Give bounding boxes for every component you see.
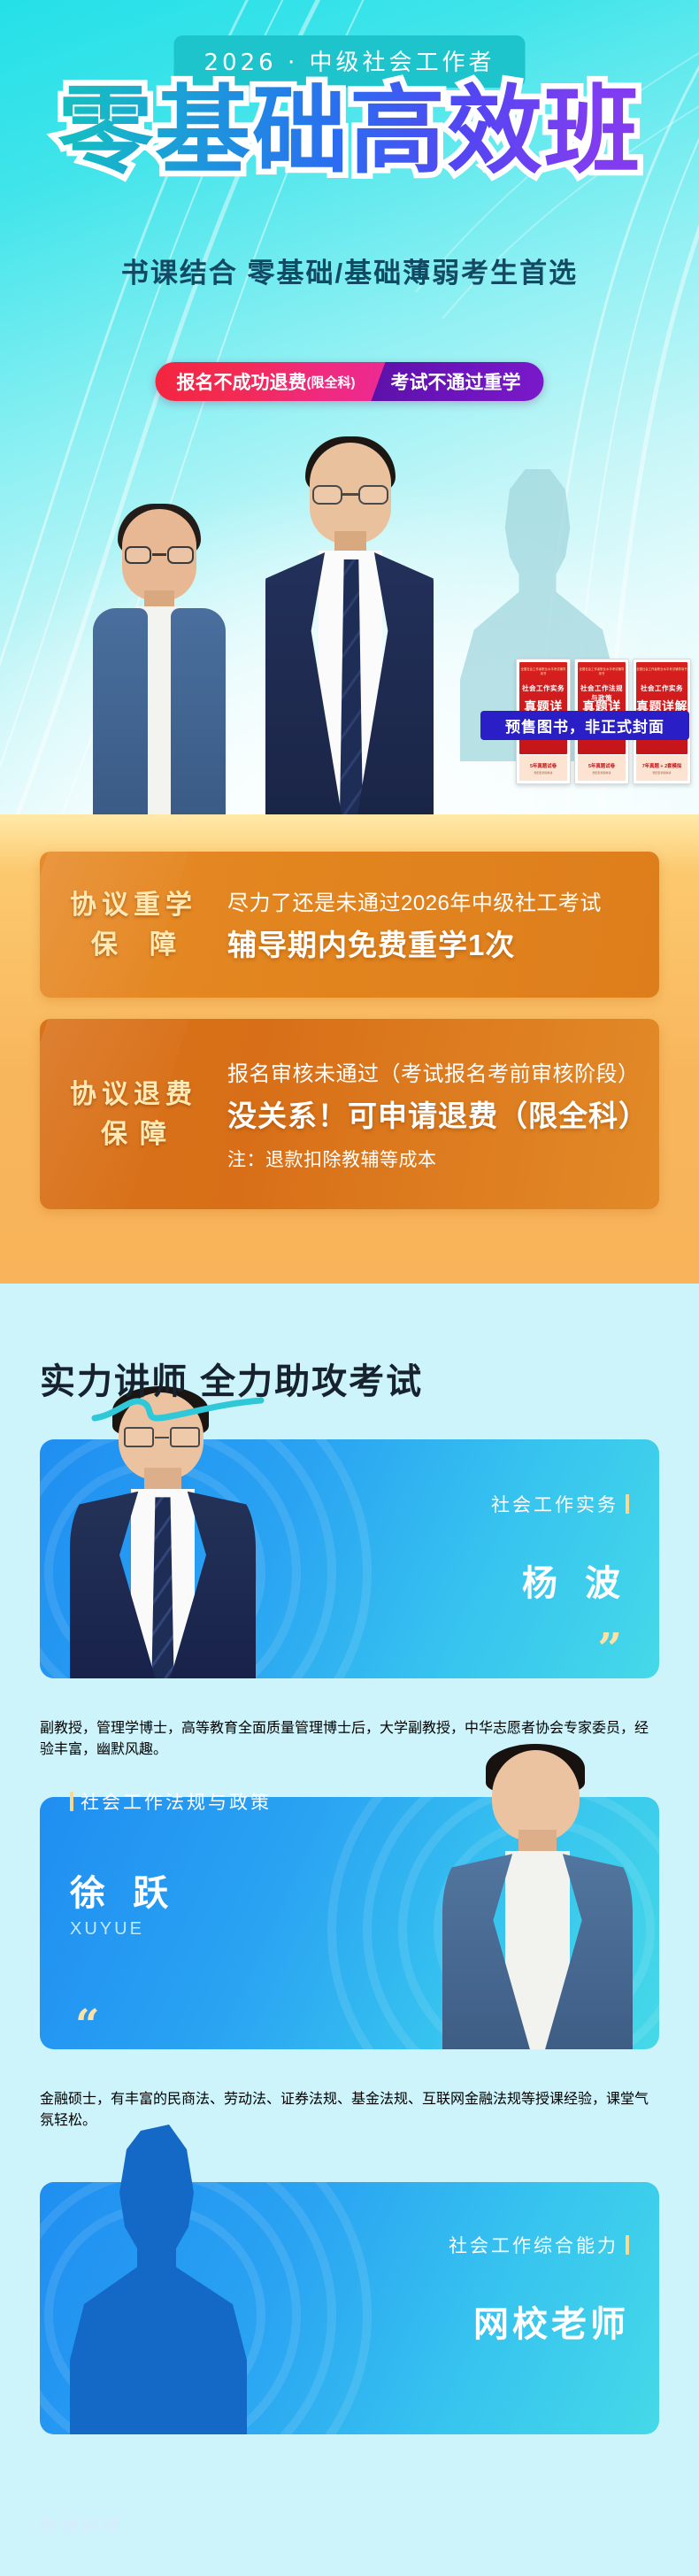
book-publisher: 全国社会工作者职业水平考试辅导用书 — [519, 667, 567, 675]
teacher-card[interactable]: 社会工作综合能力 网校老师 — [40, 2182, 659, 2434]
guarantee-tag-line2: 保 障 — [40, 925, 227, 965]
placeholder-silhouette-icon — [70, 2125, 247, 2434]
teacher-course: 社会工作法规与政策 — [70, 1788, 272, 1815]
pill-refund-sub: (限全科) — [307, 373, 356, 391]
book-badge: 7年真题 + 2套模拟 — [636, 762, 687, 769]
guarantee-footnote: 注：退款扣除教辅等成本 — [227, 1145, 649, 1172]
guarantee-pill: 报名不成功退费(限全科) 考试不通过重学 — [156, 362, 544, 401]
guarantee-card-refund: 协议退费 保障 报名审核未通过（考试报名考前审核阶段） 没关系！可申请退费（限全… — [40, 1019, 659, 1209]
guarantee-tag-line1: 协议重学 — [40, 885, 227, 925]
teacher-bio: 敬请期待... — [40, 2511, 148, 2537]
quote-mark-icon: “ — [75, 2013, 100, 2044]
quote-mark-icon: ” — [597, 1637, 622, 1668]
head-shape — [492, 1750, 580, 1842]
teachers-section: 实力讲师 全力助攻考试 — [0, 1284, 699, 2576]
teacher-portrait-suit — [70, 1386, 256, 1678]
landing-page: 2026 · 中级社会工作者 零基础高效班 零基础高效班 书课结合 零基础/基础… — [0, 0, 699, 2490]
pill-retake-label: 考试不通过重学 — [372, 362, 544, 401]
pill-refund-main: 报名不成功退费 — [177, 368, 307, 395]
book-top-panel: 全国社会工作者职业水平考试辅导用书 社会工作实务 真题详解 全国社会工作者职业水… — [636, 662, 687, 754]
teacher-photo-placeholder — [70, 2125, 247, 2434]
teacher-bio-wrap: 敬请期待... — [40, 2472, 659, 2576]
book-badge: 5年真题试卷 — [578, 762, 626, 769]
glasses-icon — [125, 546, 194, 564]
guarantee-body: 报名审核未通过（考试报名考前审核阶段） 没关系！可申请退费（限全科） 注：退款扣… — [227, 1056, 649, 1172]
guarantee-tag-line1: 协议退费 — [40, 1075, 227, 1114]
book-bottom-panel: 5年真题试卷 赠配套视频精讲 — [519, 755, 567, 781]
teacher-info: 社会工作综合能力 网校老师 — [449, 2232, 629, 2347]
course-accent-bar — [626, 1494, 629, 1514]
teacher-name: 杨 波 — [491, 1554, 629, 1606]
pill-refund-label: 报名不成功退费(限全科) — [156, 362, 386, 401]
book-publisher: 全国社会工作者职业水平考试辅导用书 — [578, 667, 626, 675]
instructor-photo-group: 全国社会工作者职业水平考试辅导用书 社会工作实务 真题详解 全国社会工作者职业水… — [0, 425, 699, 814]
guarantee-condition: 报名审核未通过（考试报名考前审核阶段） — [227, 1056, 649, 1087]
book-bottom-panel: 7年真题 + 2套模拟 赠配套视频精讲 — [636, 755, 687, 781]
teacher-name: 网校老师 — [449, 2295, 629, 2347]
book-series: 社会工作实务 — [636, 683, 687, 693]
book-stack: 全国社会工作者职业水平考试辅导用书 社会工作实务 真题详解 全国社会工作者职业水… — [516, 653, 693, 784]
teacher-info: 徐 跃 XUYUE — [70, 1864, 177, 1940]
teacher-info: 社会工作实务 杨 波 — [491, 1491, 629, 1606]
teacher-portrait-casual — [442, 1744, 633, 2049]
presale-note-banner: 预售图书，非正式封面 — [480, 711, 689, 740]
book-badge-sub: 赠配套视频精讲 — [519, 771, 567, 775]
book-bottom-panel: 5年真题试卷 赠配套视频精讲 — [578, 755, 626, 781]
teacher-card[interactable]: 社会工作实务 杨 波 ” — [40, 1439, 659, 1678]
glasses-icon — [124, 1427, 200, 1447]
teacher-name-pinyin: XUYUE — [70, 1919, 177, 1940]
book-top-panel: 全国社会工作者职业水平考试辅导用书 社会工作实务 真题详解 全国社会工作者职业水… — [519, 662, 567, 754]
necktie-shape — [151, 1497, 173, 1678]
jacket-right-shape — [171, 608, 226, 814]
guarantee-tag-line2: 保障 — [40, 1114, 227, 1154]
guarantee-benefit: 辅导期内免费重学1次 — [227, 922, 602, 964]
guarantee-tag: 协议退费 保障 — [40, 1075, 227, 1154]
course-accent-bar — [626, 2235, 629, 2255]
hero-section: 2026 · 中级社会工作者 零基础高效班 零基础高效班 书课结合 零基础/基础… — [0, 0, 699, 814]
instructor-photo-casual — [93, 509, 226, 814]
course-accent-bar — [70, 1792, 73, 1811]
instructor-photo-suit — [265, 443, 434, 814]
teacher-photo — [442, 1744, 633, 2049]
teacher-course-label: 社会工作综合能力 — [449, 2232, 618, 2258]
teacher-course-label: 社会工作实务 — [491, 1491, 618, 1517]
teacher-course: 社会工作综合能力 — [449, 2232, 629, 2258]
guarantee-benefit: 没关系！可申请退费（限全科） — [227, 1092, 649, 1135]
teacher-photo — [70, 1386, 256, 1678]
glasses-icon — [312, 485, 388, 505]
book-series: 社会工作实务 — [519, 683, 567, 693]
teacher-course: 社会工作实务 — [491, 1491, 629, 1517]
jacket-left-shape — [93, 608, 148, 814]
book-publisher: 全国社会工作者职业水平考试辅导用书 — [636, 667, 687, 671]
book-top-panel: 全国社会工作者职业水平考试辅导用书 社会工作法规与政策 真题详解 全国社会工作者… — [578, 662, 626, 754]
guarantee-card-retake: 协议重学 保 障 尽力了还是未通过2026年中级社工考试 辅导期内免费重学1次 — [40, 852, 659, 998]
teachers-heading: 实力讲师 全力助攻考试 — [40, 1353, 423, 1404]
hero-subtitle: 书课结合 零基础/基础薄弱考生首选 — [0, 251, 699, 290]
teachers-heading-wrap: 实力讲师 全力助攻考试 — [40, 1353, 659, 1404]
main-title: 零基础高效班 — [0, 78, 699, 185]
guarantee-tag: 协议重学 保 障 — [40, 885, 227, 965]
guarantee-section: 协议重学 保 障 尽力了还是未通过2026年中级社工考试 辅导期内免费重学1次 … — [0, 814, 699, 1284]
teacher-bio: 金融硕士，有丰富的民商法、劳动法、证券法规、基金法规、互联网金融法规等授课经验，… — [40, 2086, 659, 2129]
book-badge-sub: 赠配套视频精讲 — [578, 771, 626, 775]
teacher-course-label: 社会工作法规与政策 — [81, 1788, 272, 1815]
teacher-bio: 副教授，管理学博士，高等教育全面质量管理博士后，大学副教授，中华志愿者协会专家委… — [40, 1716, 659, 1758]
guarantee-condition: 尽力了还是未通过2026年中级社工考试 — [227, 885, 602, 916]
book-badge: 5年真题试卷 — [519, 762, 567, 769]
guarantee-body: 尽力了还是未通过2026年中级社工考试 辅导期内免费重学1次 — [227, 885, 602, 964]
teacher-name: 徐 跃 — [70, 1864, 177, 1916]
teacher-card[interactable]: 社会工作法规与政策 徐 跃 XUYUE “ — [40, 1797, 659, 2049]
book-badge-sub: 赠配套视频精讲 — [636, 771, 687, 775]
